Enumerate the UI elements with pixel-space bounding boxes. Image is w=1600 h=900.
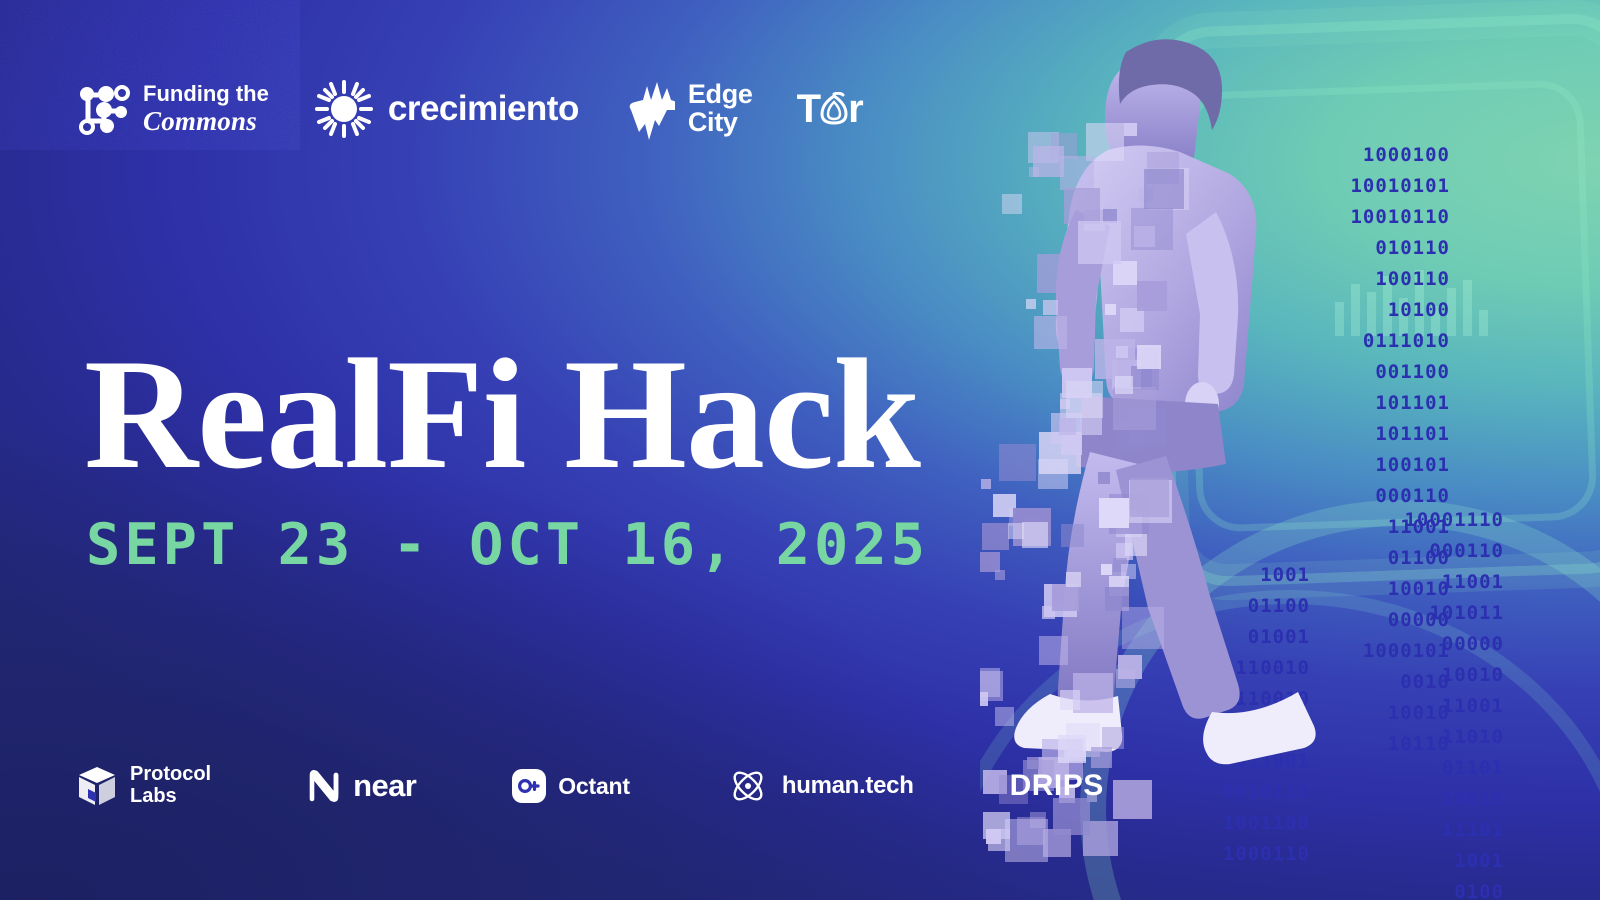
network-nodes-icon	[74, 83, 130, 135]
tor-letter-r: r	[848, 87, 863, 132]
funding-the-commons-wordmark: Funding the Commons	[143, 82, 269, 137]
pixel-block	[1033, 146, 1064, 177]
pixel-block	[995, 707, 1014, 726]
pixel-block	[1043, 300, 1058, 315]
pixel-block	[1101, 564, 1112, 575]
pixel-block	[995, 570, 1005, 580]
tor-letter-t: T	[797, 87, 820, 132]
near-wordmark: near	[353, 768, 416, 804]
pixel-block	[999, 444, 1036, 481]
logo-protocol-labs[interactable]: Protocol Labs	[76, 764, 211, 808]
pixel-block	[1060, 156, 1094, 190]
pixel-block	[1144, 169, 1184, 209]
logo-edge-city[interactable]: Edge City	[623, 76, 753, 142]
edge-line2: City	[688, 109, 753, 137]
event-dates: SEPT 23 - OCT 16, 2025	[86, 512, 929, 578]
pixel-block	[1064, 188, 1100, 224]
onion-icon	[819, 92, 849, 126]
pixel-block	[1061, 524, 1084, 547]
pixel-block	[1113, 780, 1152, 819]
edge-line1: Edge	[688, 81, 753, 109]
drips-wordmark: DRIPS	[1010, 769, 1104, 803]
logo-funding-the-commons[interactable]: Funding the Commons	[74, 82, 269, 137]
pixel-block	[1130, 478, 1169, 517]
pixel-block	[1098, 472, 1110, 484]
page-title: RealFi Hack	[84, 336, 920, 494]
human-tech-wordmark: human.tech	[782, 772, 914, 800]
octant-badge-icon	[512, 769, 546, 803]
pixel-block	[1039, 636, 1068, 665]
pixel-block	[1026, 299, 1036, 309]
pixel-block	[1116, 346, 1128, 358]
pixel-block	[1121, 564, 1136, 579]
pixel-block	[1116, 669, 1135, 688]
partner-logo-row: Funding the Commons crecimiento	[74, 76, 863, 142]
sun-burst-icon	[313, 78, 375, 140]
pixel-block	[1038, 459, 1068, 489]
pixel-block	[1066, 572, 1081, 587]
floating-island-icon	[623, 76, 675, 142]
crecimiento-wordmark: crecimiento	[388, 89, 579, 129]
pixel-block	[1099, 498, 1129, 528]
atom-orbital-icon	[726, 764, 770, 808]
pixel-block	[1037, 254, 1076, 293]
pixel-block	[1059, 418, 1076, 435]
pl-line1: Protocol	[130, 764, 211, 786]
pixel-block	[1052, 589, 1064, 601]
pl-line2: Labs	[130, 786, 211, 808]
pixel-block	[1113, 261, 1137, 285]
edge-city-wordmark: Edge City	[688, 81, 753, 136]
logo-crecimiento[interactable]: crecimiento	[313, 78, 579, 140]
pixel-block	[981, 479, 991, 489]
pixel-block	[1095, 339, 1135, 379]
pixel-block	[1137, 345, 1161, 369]
pixel-block	[986, 829, 1001, 844]
logo-near[interactable]: near	[307, 768, 416, 804]
pixel-block	[1022, 522, 1048, 548]
pixel-block	[1060, 690, 1080, 710]
near-n-icon	[307, 769, 341, 803]
pixel-block	[1078, 221, 1121, 264]
ftc-line1: Funding the	[143, 81, 269, 106]
pixel-block	[1058, 735, 1086, 763]
ftc-line2: Commons	[143, 106, 269, 136]
pixel-block	[1115, 376, 1133, 394]
pixel-block	[1124, 123, 1137, 136]
pixel-block	[1120, 308, 1144, 332]
logo-human-tech[interactable]: human.tech	[726, 764, 914, 808]
pixel-block	[1137, 281, 1167, 311]
event-banner: 1000100 10010101 10010110 010110 100110 …	[0, 0, 1600, 900]
sponsor-logo-row: Protocol Labs near Octant	[76, 764, 1104, 808]
pixel-block	[1034, 316, 1067, 349]
cube-icon	[76, 764, 118, 808]
tor-wordmark: T r	[797, 87, 863, 132]
pixel-block	[1125, 534, 1147, 556]
pixel-block	[1134, 226, 1155, 247]
pixel-block	[982, 523, 1009, 550]
pixel-block	[1066, 381, 1103, 418]
pixel-block	[1105, 304, 1116, 315]
pixel-block	[1131, 366, 1152, 387]
pixel-block	[980, 668, 1000, 697]
protocol-labs-wordmark: Protocol Labs	[130, 764, 211, 807]
octant-wordmark: Octant	[558, 773, 630, 800]
logo-tor[interactable]: T r	[797, 87, 863, 132]
pixel-block	[1002, 194, 1022, 214]
pixel-block	[1005, 819, 1048, 862]
octant-mark-icon	[518, 779, 540, 793]
logo-octant[interactable]: Octant	[512, 769, 630, 803]
logo-drips[interactable]: DRIPS	[1010, 769, 1104, 803]
pixel-block	[1122, 607, 1164, 649]
